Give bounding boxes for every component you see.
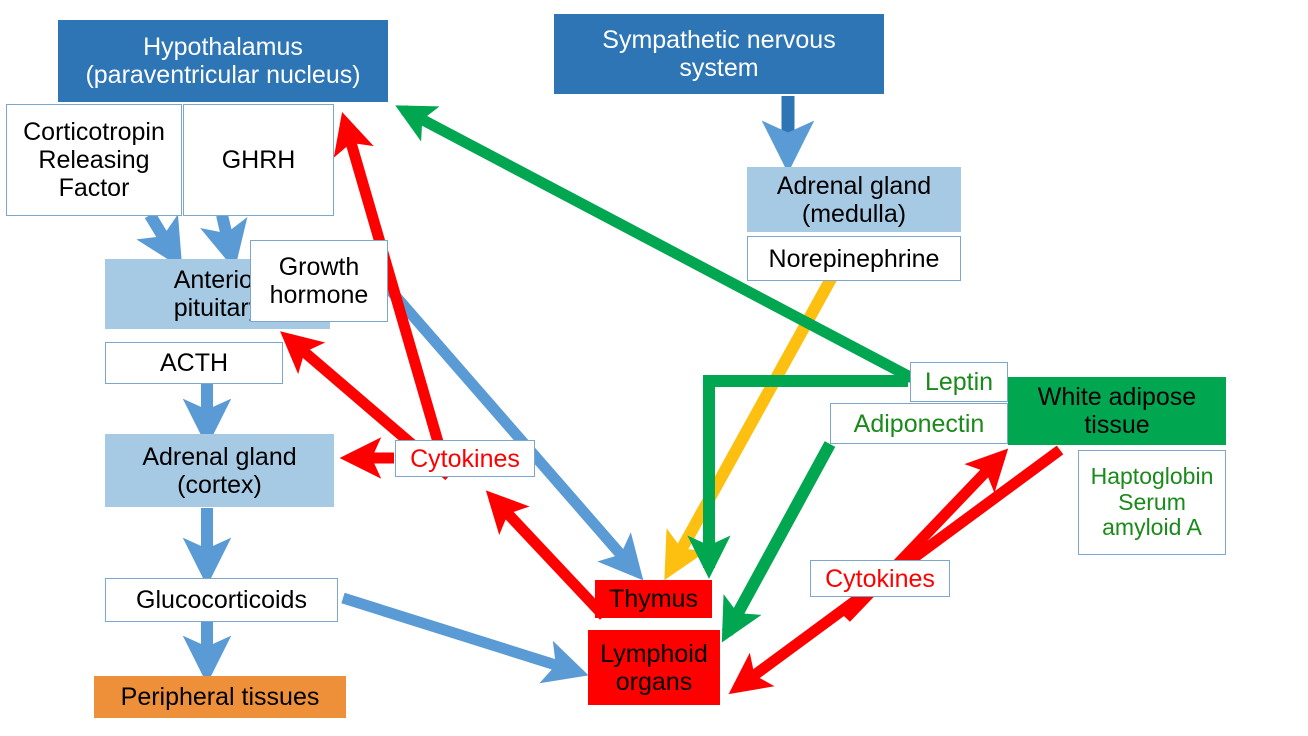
- node-peripheral-tissues[interactable]: Peripheral tissues: [94, 676, 346, 718]
- node-norepinephrine[interactable]: Norepinephrine: [747, 236, 961, 281]
- arrow-glucocorticoids-to-lymphoid: [343, 598, 578, 672]
- node-lymphoid-organs[interactable]: Lymphoid organs: [588, 630, 720, 705]
- node-leptin[interactable]: Leptin: [910, 362, 1008, 402]
- node-ghrh[interactable]: GHRH: [183, 104, 334, 216]
- node-sympathetic-nervous-system[interactable]: Sympathetic nervous system: [554, 14, 884, 94]
- arrow-ghrh-to-pituitary: [222, 215, 232, 258]
- arrow-crf-to-pituitary: [150, 215, 176, 258]
- arrow-adiponectin-to-lymphoid: [727, 444, 830, 633]
- node-corticotropin-releasing-factor[interactable]: Corticotropin Releasing Factor: [6, 104, 182, 216]
- node-cytokines-left[interactable]: Cytokines: [395, 440, 535, 477]
- node-adrenal-gland-medulla[interactable]: Adrenal gland (medulla): [747, 167, 961, 232]
- node-white-adipose-tissue[interactable]: White adipose tissue: [1008, 377, 1226, 445]
- node-adiponectin[interactable]: Adiponectin: [830, 403, 1008, 444]
- node-haptoglobin-serum-amyloid-a[interactable]: Haptoglobin Serum amyloid A: [1078, 450, 1226, 555]
- diagram-canvas: Hypothalamus (paraventricular nucleus) C…: [0, 0, 1308, 736]
- node-hypothalamus[interactable]: Hypothalamus (paraventricular nucleus): [58, 20, 388, 102]
- node-adrenal-gland-cortex[interactable]: Adrenal gland (cortex): [105, 434, 334, 507]
- node-glucocorticoids[interactable]: Glucocorticoids: [105, 578, 338, 622]
- arrow-growth-hormone-to-thymus: [385, 284, 636, 572]
- node-thymus[interactable]: Thymus: [595, 580, 712, 618]
- node-cytokines-right[interactable]: Cytokines: [810, 560, 950, 597]
- node-growth-hormone[interactable]: Growth hormone: [250, 240, 388, 322]
- node-acth[interactable]: ACTH: [105, 342, 283, 384]
